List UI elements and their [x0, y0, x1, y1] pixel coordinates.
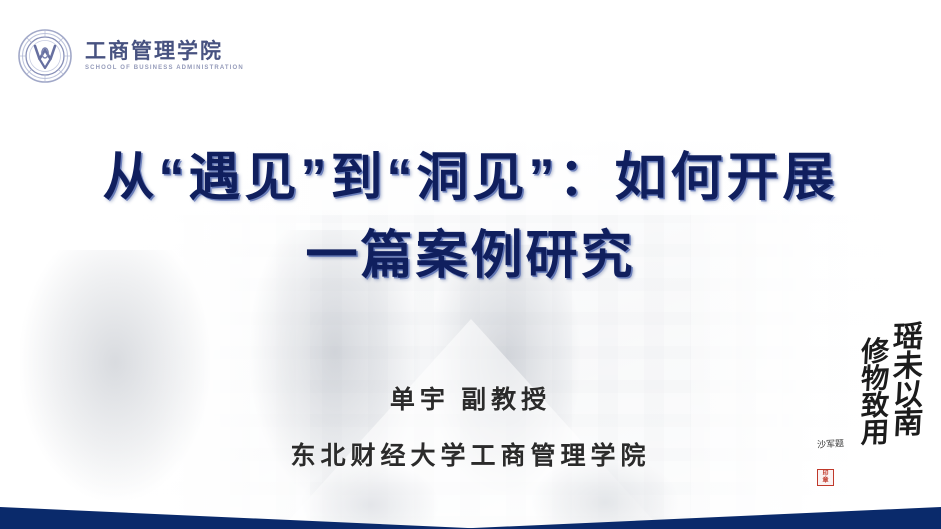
calligraphy-inscription: 瑶未以南 修物致用 沙军题 印 章	[815, 322, 923, 502]
calligraphy-red-seal: 印 章	[817, 469, 834, 486]
calligraphy-column-left: 修物致用	[861, 340, 889, 448]
school-name-chinese: 工商管理学院	[85, 41, 244, 62]
seal-char-1: 印	[822, 471, 828, 478]
school-crest-icon	[17, 28, 73, 84]
seal-char-2: 章	[822, 478, 828, 485]
school-logo-text: 工商管理学院 SCHOOL OF BUSINESS ADMINISTRATION	[85, 41, 244, 71]
school-name-english: SCHOOL OF BUSINESS ADMINISTRATION	[85, 65, 244, 71]
presentation-title-slide: 工商管理学院 SCHOOL OF BUSINESS ADMINISTRATION…	[0, 0, 941, 529]
school-logo: 工商管理学院 SCHOOL OF BUSINESS ADMINISTRATION	[17, 28, 244, 84]
title-line-2: 一篇案例研究	[0, 228, 941, 284]
calligraphy-signature: 沙军题	[817, 436, 845, 450]
page-title: 从“遇见”到“洞见”：如何开展 一篇案例研究	[0, 150, 941, 284]
presenter-info: 单宇 副教授 东北财经大学工商管理学院	[0, 386, 941, 472]
presenter-affiliation: 东北财经大学工商管理学院	[0, 442, 941, 472]
calligraphy-column-right: 瑶未以南	[893, 324, 923, 439]
presenter-name: 单宇 副教授	[0, 386, 941, 416]
title-line-1: 从“遇见”到“洞见”：如何开展	[0, 150, 941, 206]
